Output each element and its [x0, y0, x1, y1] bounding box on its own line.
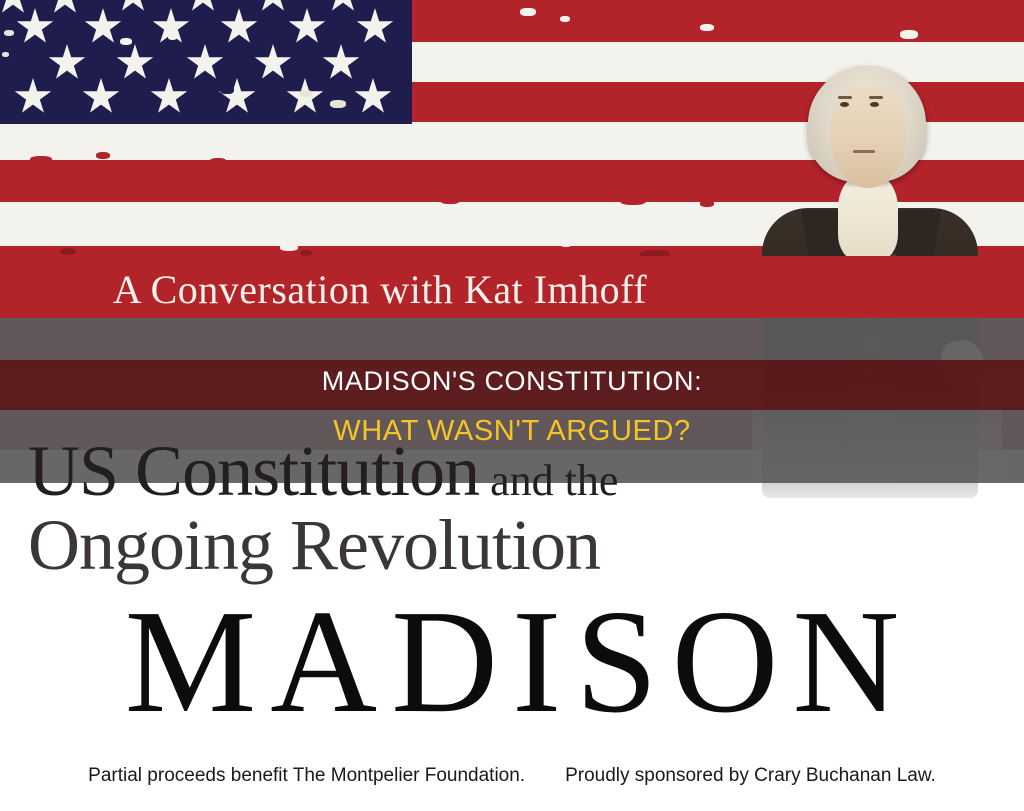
- footer-sponsor-text: Proudly sponsored by Crary Buchanan Law.: [565, 765, 936, 787]
- flag-star: [150, 78, 188, 116]
- flag-star: [152, 8, 190, 46]
- headline-text: A Conversation with Kat Imhoff: [0, 268, 760, 318]
- flag-star: [84, 8, 122, 46]
- flag-canton: [0, 0, 412, 124]
- flag-star: [286, 78, 324, 116]
- flag-star: [48, 44, 86, 82]
- portrait-face: [830, 84, 906, 188]
- flag-star: [114, 0, 152, 14]
- footer-bar: Partial proceeds benefit The Montpelier …: [0, 756, 1024, 796]
- flag-star: [354, 78, 392, 116]
- flag-star: [220, 8, 258, 46]
- caption-line-2: WHAT WASN'T ARGUED?: [0, 415, 1024, 448]
- portrait-mouth: [853, 150, 875, 153]
- flag-star: [186, 44, 224, 82]
- flag-star: [82, 78, 120, 116]
- grunge-speck: [4, 30, 14, 36]
- flag-star: [288, 8, 326, 46]
- portrait-brow: [838, 96, 852, 99]
- portrait-brow: [869, 96, 883, 99]
- flag-star: [322, 44, 360, 82]
- flag-star: [46, 0, 84, 16]
- flag-star: [14, 78, 52, 116]
- flag-star: [184, 0, 222, 14]
- poster-canvas: A Conversation with Kat Imhoff MADISON'S…: [0, 0, 1024, 811]
- subtitle-light: and the: [479, 456, 618, 505]
- grunge-speck: [330, 100, 346, 108]
- grunge-speck: [2, 52, 9, 57]
- subtitle-block: US Constitution and the Ongoing Revoluti…: [28, 438, 788, 579]
- portrait-eye: [840, 102, 849, 107]
- madison-wordmark: MADISON: [0, 588, 1024, 736]
- flag-star: [356, 8, 394, 46]
- subtitle-line-2: Ongoing Revolution: [28, 512, 788, 580]
- grunge-speck: [254, 96, 274, 105]
- portrait-eye: [870, 102, 879, 107]
- flag-star: [16, 8, 54, 46]
- grunge-speck: [196, 108, 218, 115]
- flag-star: [254, 0, 292, 14]
- footer-beneficiary-text: Partial proceeds benefit The Montpelier …: [88, 765, 525, 787]
- flag-star: [218, 78, 256, 116]
- caption-line-1: MADISON'S CONSTITUTION:: [0, 366, 1024, 397]
- flag-star: [0, 0, 32, 16]
- flag-star: [324, 0, 362, 14]
- flag-star: [254, 44, 292, 82]
- flag-star: [116, 44, 154, 82]
